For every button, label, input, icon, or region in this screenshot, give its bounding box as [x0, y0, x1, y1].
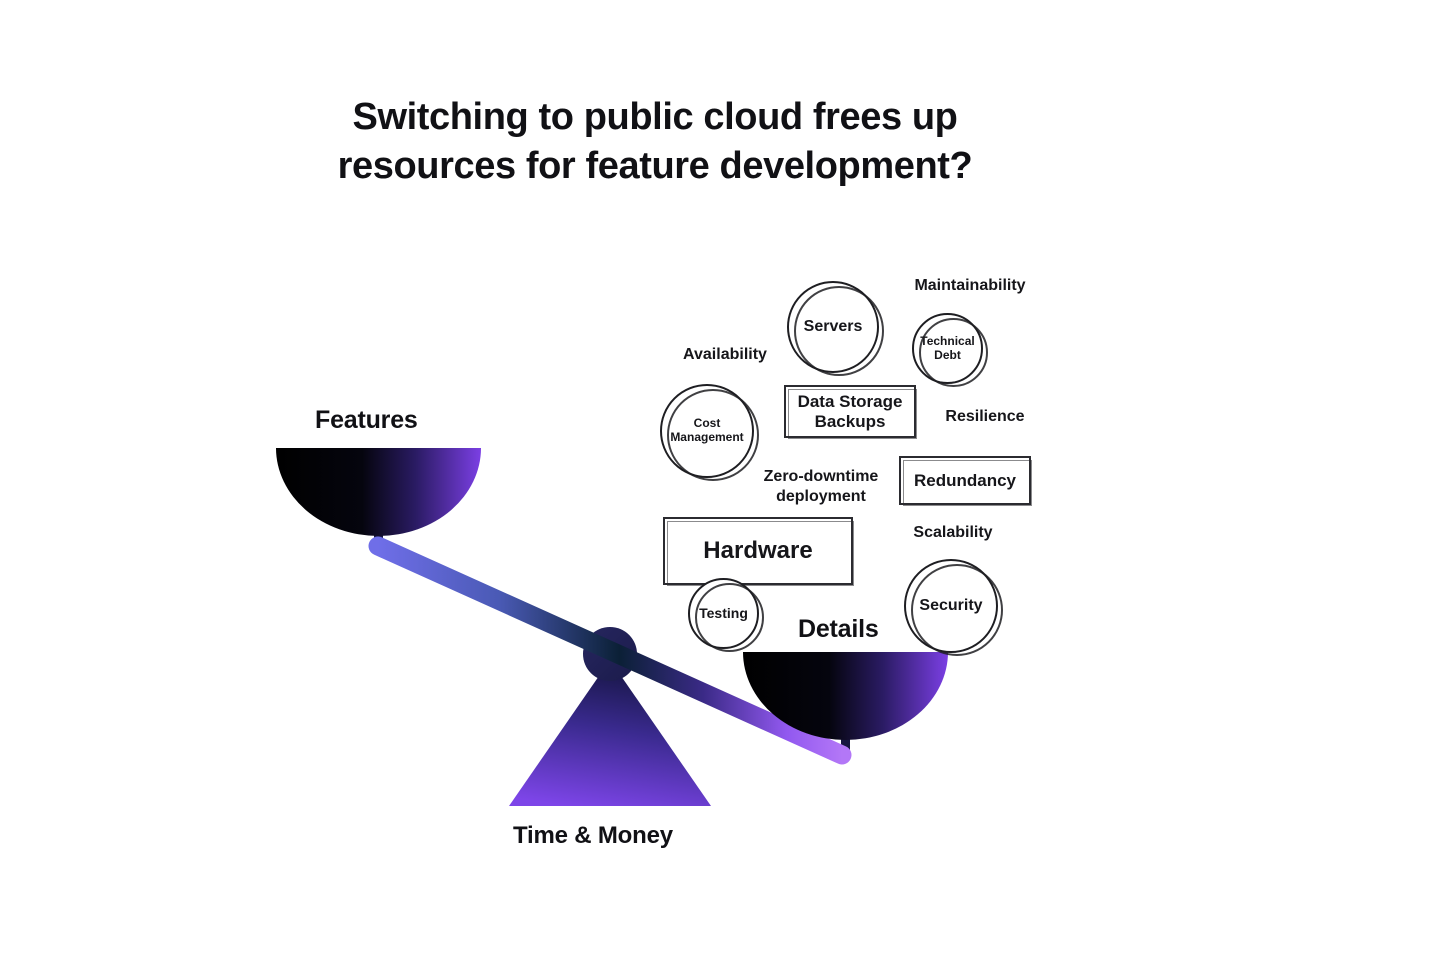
node-cost-management-label: Cost Management — [670, 417, 743, 445]
node-technical-debt: Technical Debt — [912, 313, 983, 384]
node-data-storage-backups-label: Data Storage Backups — [798, 392, 903, 431]
node-technical-debt-label: Technical Debt — [920, 335, 974, 363]
node-redundancy-label: Redundancy — [914, 471, 1016, 491]
node-data-storage-backups: Data Storage Backups — [784, 385, 916, 438]
node-testing-label: Testing — [699, 605, 748, 621]
node-security: Security — [904, 559, 998, 653]
node-hardware-label: Hardware — [703, 537, 812, 565]
label-maintainability: Maintainability — [900, 276, 1040, 296]
diagram-canvas: Switching to public cloud frees up resou… — [0, 0, 1440, 958]
node-servers-label: Servers — [804, 318, 863, 337]
node-hardware: Hardware — [663, 517, 853, 585]
node-cost-management: Cost Management — [660, 384, 754, 478]
label-scalability: Scalability — [899, 523, 1007, 543]
label-resilience: Resilience — [935, 407, 1035, 427]
concept-cluster: Servers Technical Debt Cost Management D… — [0, 0, 1440, 958]
label-availability: Availability — [665, 345, 785, 365]
node-servers: Servers — [787, 281, 879, 373]
node-redundancy: Redundancy — [899, 456, 1031, 505]
node-security-label: Security — [919, 597, 982, 616]
label-zero-downtime-deployment: Zero-downtime deployment — [758, 467, 884, 506]
node-testing: Testing — [688, 578, 759, 649]
